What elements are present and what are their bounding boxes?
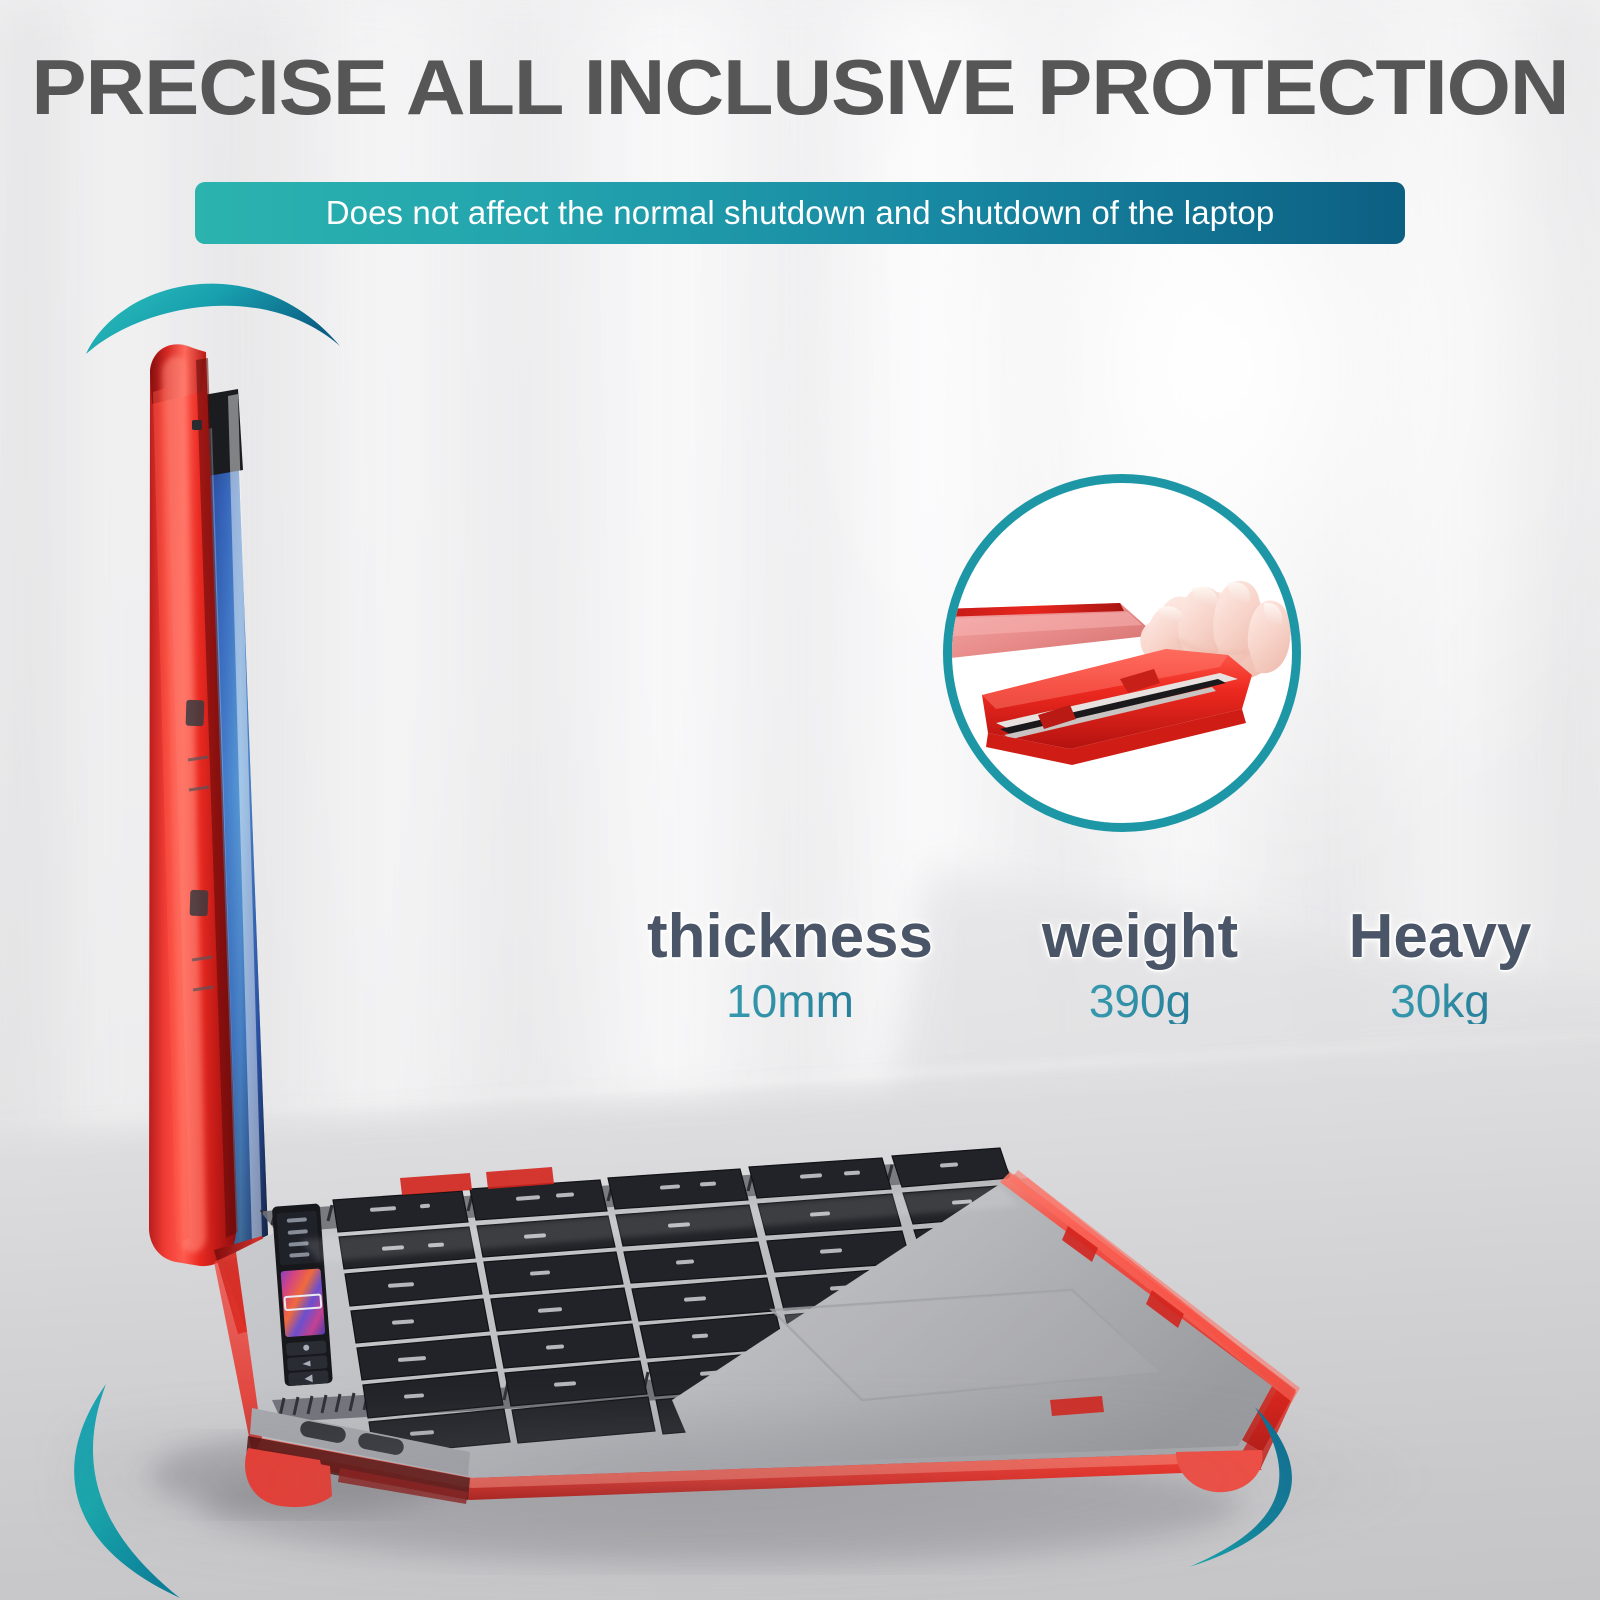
subheadline-banner: Does not affect the normal shutdown and … xyxy=(195,182,1405,244)
subheadline-text: Does not affect the normal shutdown and … xyxy=(326,194,1275,232)
product-marketing-image: PRECISE ALL INCLUSIVE PROTECTION Does no… xyxy=(0,0,1600,1600)
spec-weight-label: weight xyxy=(1000,905,1280,968)
spec-thickness: thickness 10mm xyxy=(600,905,980,1024)
spec-heavy-label: Heavy xyxy=(1300,905,1580,968)
floor-shadow xyxy=(64,1408,1440,1584)
teal-swoosh-arc-top-left xyxy=(78,258,348,388)
page-title: PRECISE ALL INCLUSIVE PROTECTION xyxy=(0,48,1600,126)
spec-heavy: Heavy 30kg xyxy=(1300,905,1580,1024)
hand-opening-lid-illustration xyxy=(952,483,1292,823)
detail-inset-circle xyxy=(943,474,1301,832)
spec-weight-value: 390g xyxy=(1000,978,1280,1024)
spec-thickness-label: thickness xyxy=(600,905,980,968)
spec-row: thickness 10mm weight 390g Heavy 30kg xyxy=(600,905,1580,1065)
spec-thickness-value: 10mm xyxy=(600,978,980,1024)
spec-weight: weight 390g xyxy=(1000,905,1280,1024)
spec-heavy-value: 30kg xyxy=(1300,978,1580,1024)
